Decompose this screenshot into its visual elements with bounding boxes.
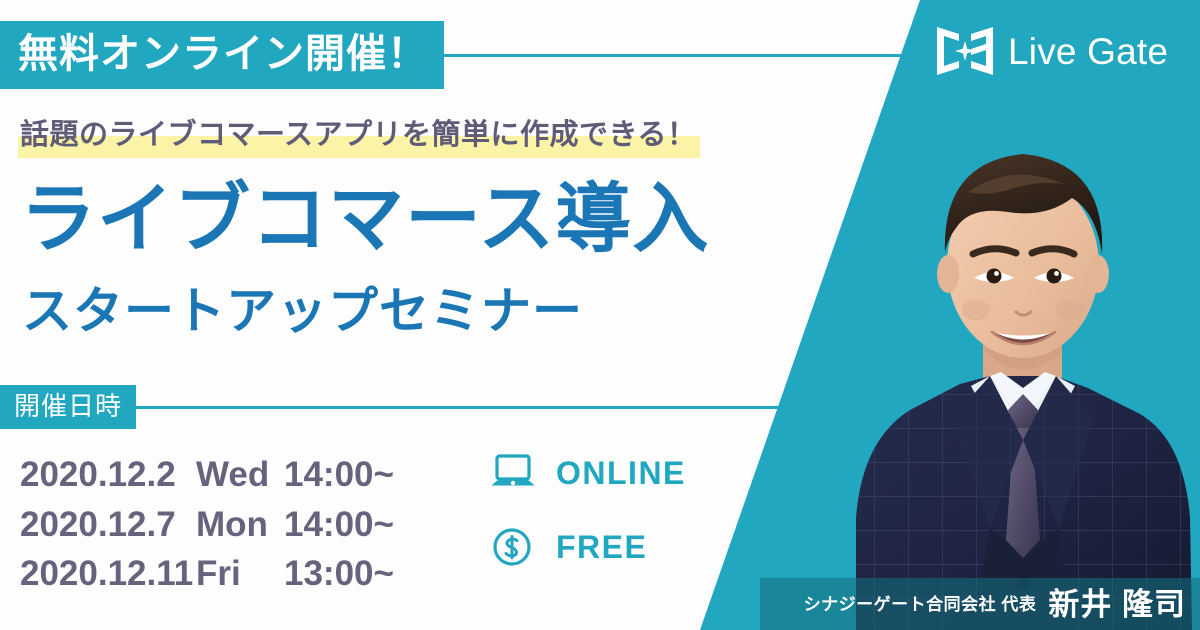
laptop-icon	[490, 452, 536, 494]
live-gate-mark-icon	[934, 24, 996, 78]
info-badge-label: FREE	[556, 531, 647, 563]
header-rule	[444, 54, 940, 57]
hero-subtitle: 話題のライブコマースアプリを簡単に作成できる！	[18, 117, 700, 158]
session-date: 2020.12.7	[20, 500, 196, 550]
speaker-caption-bar: シナジーゲート合同会社 代表 新井 隆司	[760, 578, 1200, 630]
schedule-badge: 開催日時	[0, 385, 136, 429]
speaker-organization: シナジーゲート合同会社 代表	[804, 596, 1037, 613]
session-date: 2020.12.2	[20, 450, 196, 500]
hero-title-line2: スタートアップセミナー	[22, 286, 583, 336]
schedule-rule	[136, 406, 800, 409]
session-day: Fri	[196, 549, 284, 599]
brand-logo: Live Gate	[934, 24, 1168, 78]
schedule-row: 2020.12.7 Mon 14:00~	[20, 500, 414, 550]
info-badge-list: ONLINE FREE	[490, 452, 686, 568]
session-day: Mon	[196, 500, 284, 550]
poster-canvas: Live Gate 無料オンライン開催！ 話題のライブコマースアプリを簡単に作成…	[0, 0, 1200, 630]
logo-text: Live Gate	[1008, 33, 1168, 70]
speaker-name: 新井 隆司	[1048, 589, 1186, 620]
schedule-row: 2020.12.11 Fri 13:00~	[20, 549, 414, 599]
free-online-badge: 無料オンライン開催！	[0, 21, 444, 89]
session-date: 2020.12.11	[20, 549, 196, 599]
info-badge-free: FREE	[490, 526, 686, 568]
hero-title-line1: ライブコマース導入	[20, 182, 709, 258]
session-time: 14:00~	[284, 450, 414, 500]
info-badge-label: ONLINE	[556, 457, 686, 489]
info-badge-online: ONLINE	[490, 452, 686, 494]
schedule-badge-row: 開催日時	[0, 385, 800, 429]
session-time: 14:00~	[284, 500, 414, 550]
session-time: 13:00~	[284, 549, 414, 599]
schedule-list: 2020.12.2 Wed 14:00~ 2020.12.7 Mon 14:00…	[20, 450, 414, 599]
dollar-circle-icon	[490, 526, 536, 568]
schedule-row: 2020.12.2 Wed 14:00~	[20, 450, 414, 500]
speaker-portrait	[840, 88, 1200, 630]
free-online-badge-row: 無料オンライン開催！	[0, 21, 940, 89]
session-day: Wed	[196, 450, 284, 500]
